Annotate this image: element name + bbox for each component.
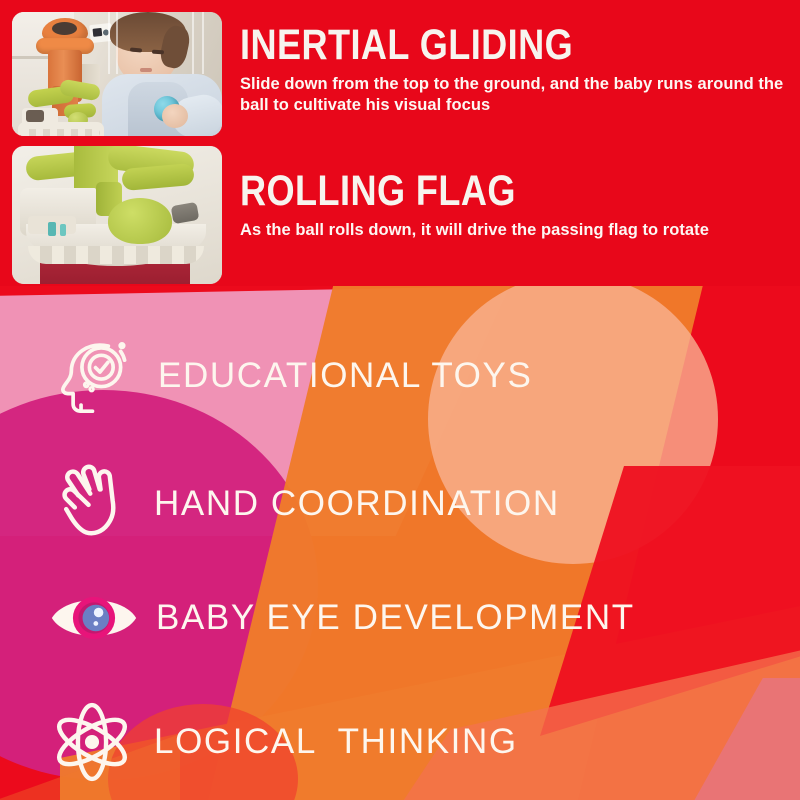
- feature-highlights-section: INERTIAL GLIDING Slide down from the top…: [0, 0, 800, 290]
- feature-block-rolling-flag: ROLLING FLAG As the ball rolls down, it …: [240, 168, 796, 241]
- benefit-label: BABY EYE DEVELOPMENT: [156, 598, 635, 638]
- atom-icon: [46, 696, 138, 788]
- feature-title: INERTIAL GLIDING: [240, 22, 707, 68]
- baby-playing-with-ball-drop-tower-photo: [12, 12, 222, 136]
- feature-block-inertial-gliding: INERTIAL GLIDING Slide down from the top…: [240, 22, 796, 116]
- eye-icon: [48, 580, 140, 656]
- benefit-label: LOGICAL THINKING: [154, 722, 518, 762]
- feature-title: ROLLING FLAG: [240, 168, 707, 214]
- feature-description: Slide down from the top to the ground, a…: [240, 74, 796, 116]
- head-brain-check-icon: [50, 330, 142, 422]
- feature-description: As the ball rolls down, it will drive th…: [240, 220, 796, 241]
- hand-icon: [46, 458, 138, 550]
- benefit-label: HAND COORDINATION: [154, 484, 560, 524]
- benefit-item-logical-thinking: LOGICAL THINKING: [46, 696, 518, 788]
- benefit-item-educational-toys: EDUCATIONAL TOYS: [50, 330, 532, 422]
- toy-flag-closeup-photo: [12, 146, 222, 284]
- infographic-page: INERTIAL GLIDING Slide down from the top…: [0, 0, 800, 800]
- benefit-label: EDUCATIONAL TOYS: [158, 356, 532, 396]
- benefit-item-hand-coordination: HAND COORDINATION: [46, 458, 560, 550]
- benefit-item-baby-eye-development: BABY EYE DEVELOPMENT: [48, 580, 635, 656]
